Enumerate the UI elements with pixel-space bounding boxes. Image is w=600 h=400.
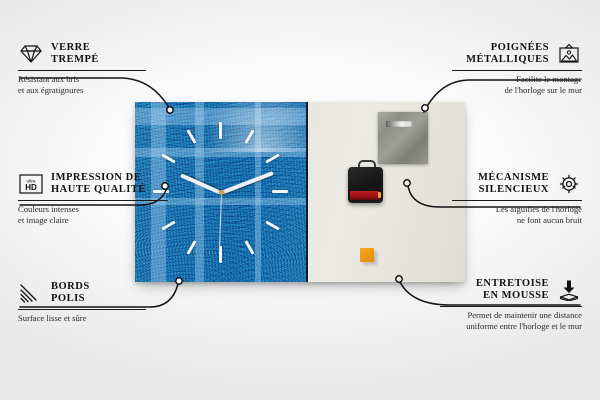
feature-title: POIGNÉES MÉTALLIQUES xyxy=(466,42,549,67)
feature-header: ultra HD IMPRESSION DE HAUTE QUALITÉ xyxy=(18,172,168,197)
feature-subtitle: Couleurs intenses et image claire xyxy=(18,204,168,226)
feature-subtitle: Surface lisse et sûre xyxy=(18,313,146,324)
wall-mount-icon xyxy=(556,42,582,66)
metal-handle-plate xyxy=(378,112,428,164)
feature-divider xyxy=(440,306,582,307)
feature-entretoise-en-mousse: ENTRETOISE EN MOUSSE Permet de maintenir… xyxy=(440,278,582,332)
clock-center-cap xyxy=(219,190,224,195)
feature-bords-polis: BORDS POLIS Surface lisse et sûre xyxy=(18,281,146,324)
battery xyxy=(350,191,379,200)
product-image xyxy=(135,102,465,282)
feature-title: MÉCANISME SILENCIEUX xyxy=(478,172,549,197)
ultra-hd-icon: ultra HD xyxy=(18,172,44,196)
clock-tick xyxy=(272,190,288,193)
feature-title: BORDS POLIS xyxy=(51,281,90,306)
feature-impression-haute-qualite: ultra HD IMPRESSION DE HAUTE QUALITÉ Cou… xyxy=(18,172,168,226)
feature-title: ENTRETOISE EN MOUSSE xyxy=(476,278,549,303)
feature-divider xyxy=(452,200,582,201)
feature-divider xyxy=(18,200,168,201)
clock-back-panel xyxy=(308,102,465,282)
feature-subtitle: Résistant aux bris et aux égratignures xyxy=(18,74,146,96)
feature-divider xyxy=(452,70,582,71)
feature-subtitle: Permet de maintenir une distance uniform… xyxy=(440,310,582,332)
arrow-down-pad-icon xyxy=(556,278,582,302)
diamond-icon xyxy=(18,42,44,66)
feature-header: MÉCANISME SILENCIEUX xyxy=(452,172,582,197)
svg-text:HD: HD xyxy=(25,183,37,192)
feature-verre-trempe: VERRE TREMPÉ Résistant aux bris et aux é… xyxy=(18,42,146,96)
infographic-canvas: VERRE TREMPÉ Résistant aux bris et aux é… xyxy=(0,0,600,400)
feature-poignees-metalliques: POIGNÉES MÉTALLIQUES Facilite le montage… xyxy=(452,42,582,96)
feature-mecanisme-silencieux: MÉCANISME SILENCIEUX Les aiguill xyxy=(452,172,582,226)
clock-mechanism-box xyxy=(348,167,383,203)
feature-header: BORDS POLIS xyxy=(18,281,146,306)
feature-header: VERRE TREMPÉ xyxy=(18,42,146,67)
feature-subtitle: Facilite le montage de l'horloge sur le … xyxy=(452,74,582,96)
feature-title: VERRE TREMPÉ xyxy=(51,42,99,67)
gear-icon xyxy=(556,172,582,196)
foam-spacer xyxy=(360,248,374,262)
feature-header: POIGNÉES MÉTALLIQUES xyxy=(452,42,582,67)
feature-title: IMPRESSION DE HAUTE QUALITÉ xyxy=(51,172,146,197)
diagonal-lines-icon xyxy=(18,281,44,305)
clock-tick xyxy=(219,122,222,139)
feature-divider xyxy=(18,309,146,310)
feature-subtitle: Les aiguilles de l'horloge ne font aucun… xyxy=(452,204,582,226)
feature-divider xyxy=(18,70,146,71)
feature-header: ENTRETOISE EN MOUSSE xyxy=(440,278,582,303)
